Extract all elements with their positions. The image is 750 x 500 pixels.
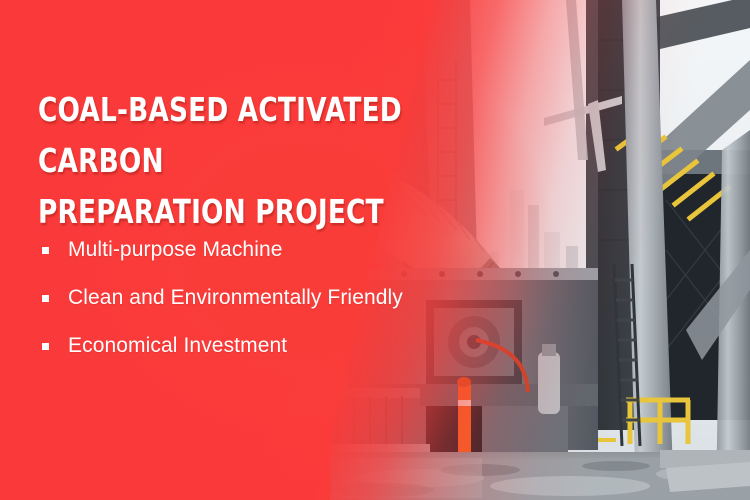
list-item: Economical Investment [38,322,508,370]
square-bullet-icon [42,343,49,350]
square-bullet-icon [42,295,49,302]
banner-content: COAL-BASED ACTIVATED CARBON PREPARATION … [38,0,508,500]
page-title: COAL-BASED ACTIVATED CARBON PREPARATION … [38,84,414,237]
feature-label: Clean and Environmentally Friendly [68,285,403,311]
list-item: Multi-purpose Machine [38,226,508,274]
feature-list: Multi-purpose Machine Clean and Environm… [38,226,508,370]
list-item: Clean and Environmentally Friendly [38,274,508,322]
square-bullet-icon [42,247,49,254]
feature-label: Economical Investment [68,333,287,359]
promo-banner: COAL-BASED ACTIVATED CARBON PREPARATION … [0,0,750,500]
feature-label: Multi-purpose Machine [68,237,283,263]
